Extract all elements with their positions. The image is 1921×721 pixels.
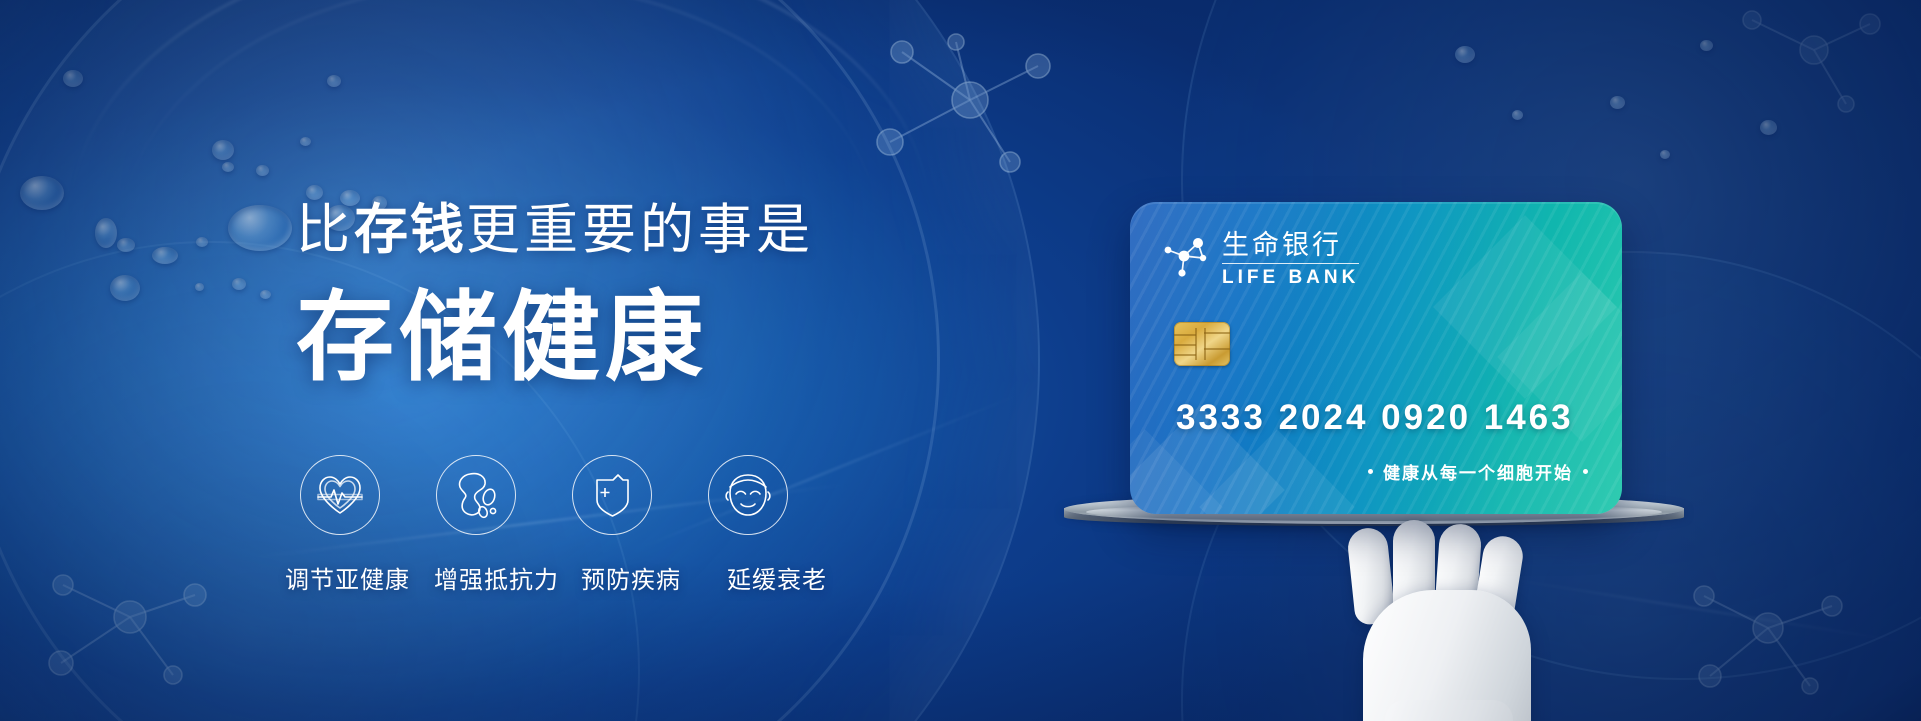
headline-prefix: 比 xyxy=(296,200,354,260)
gloved-hand xyxy=(1345,520,1555,721)
headline-suffix: 更重要的事是 xyxy=(466,200,814,260)
card-brand-text: 生命银行 LIFE BANK xyxy=(1222,232,1359,287)
feature-icon-row xyxy=(300,455,788,535)
feature-label-2: 预防疾病 xyxy=(581,560,681,595)
bank-card[interactable]: 生命银行 LIFE BANK 3333 2024 0920 1463 xyxy=(1130,202,1622,514)
cells-icon xyxy=(436,455,516,535)
feature-label-0: 调节亚健康 xyxy=(285,560,410,595)
card-brand-divider xyxy=(1222,263,1359,264)
bullet-dot-left xyxy=(1368,469,1373,474)
emv-chip-icon xyxy=(1174,322,1230,366)
wrist xyxy=(1385,700,1513,721)
smiling-face-icon xyxy=(708,455,788,535)
card-brand-en: LIFE BANK xyxy=(1222,268,1359,287)
shield-plus-icon xyxy=(572,455,652,535)
headline-primary: 存储健康 xyxy=(296,288,708,386)
molecule-icon xyxy=(1162,234,1210,285)
card-tagline-text: 健康从每一个细胞开始 xyxy=(1383,459,1573,484)
banner-copy-block: 比存钱更重要的事是 存储健康 xyxy=(0,0,900,721)
heart-pulse-icon xyxy=(300,455,380,535)
feature-label-row: 调节亚健康 增强抵抗力 预防疾病 延缓衰老 xyxy=(285,560,827,595)
card-face: 生命银行 LIFE BANK 3333 2024 0920 1463 xyxy=(1130,202,1622,514)
feature-label-1: 增强抵抗力 xyxy=(434,560,559,595)
card-tagline: 健康从每一个细胞开始 xyxy=(1368,459,1588,484)
card-number: 3333 2024 0920 1463 xyxy=(1176,398,1574,438)
feature-label-3: 延缓衰老 xyxy=(727,560,827,595)
bullet-dot-right xyxy=(1583,469,1588,474)
headline-emphasis: 存钱 xyxy=(354,200,466,260)
headline-secondary: 比存钱更重要的事是 xyxy=(296,203,814,257)
card-brand-cn: 生命银行 xyxy=(1222,232,1359,259)
card-brand: 生命银行 LIFE BANK xyxy=(1162,232,1359,287)
health-bank-banner: 比存钱更重要的事是 存储健康 xyxy=(0,0,1921,721)
